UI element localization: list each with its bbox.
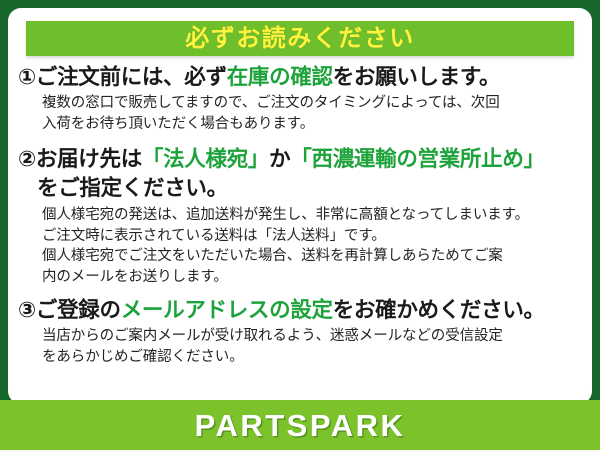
footer-brand-band: PARTSPARK bbox=[0, 400, 600, 450]
notice-item-2-body-line-1: 個人様宅宛の発送は、追加送料が発生し、非常に高額となってしまいます。 bbox=[42, 205, 584, 226]
notice-item-1: ①ご注文前には、必ず在庫の確認をお願いします。 複数の窓口で販売してますので、ご… bbox=[16, 64, 584, 135]
notice-item-1-heading-part-1: ①ご注文前には、必ず bbox=[18, 65, 227, 89]
notice-item-2-heading-part-3: か bbox=[269, 147, 290, 171]
notice-item-2-heading-highlight-2: 「西濃運輸の営業所止め」 bbox=[290, 147, 544, 171]
notice-item-2-body-line-3: 個人様宅宛でご注文をいただいた場合、送料を再計算しあらためてご案 bbox=[42, 246, 584, 267]
notice-item-2-body-line-2: ご注文時に表示されている送料は「法人送料」です。 bbox=[42, 226, 584, 247]
notice-panel: 必ずお読みください ①ご注文前には、必ず在庫の確認をお願いします。 複数の窓口で… bbox=[8, 8, 592, 404]
notice-item-3-body-line-1: 当店からのご案内メールが受け取れるよう、迷惑メールなどの受信設定 bbox=[42, 326, 584, 347]
notice-item-1-heading-part-3: をお願いします。 bbox=[333, 65, 500, 89]
page-title: 必ずお読みください bbox=[185, 27, 415, 51]
notice-item-3: ③ご登録のメールアドレスの設定をお確かめください。 当店からのご案内メールが受け… bbox=[16, 297, 584, 368]
notice-item-1-heading-highlight: 在庫の確認 bbox=[227, 65, 333, 89]
brand-logo-text: PARTSPARK bbox=[195, 410, 406, 441]
notice-item-3-heading-part-3: をお確かめください。 bbox=[333, 298, 545, 322]
notice-item-3-heading-highlight: メールアドレスの設定 bbox=[121, 298, 333, 322]
notice-item-2-heading-part-1: ②お届け先は bbox=[18, 147, 142, 171]
notice-item-1-body-line-1: 複数の窓口で販売してますので、ご注文のタイミングによっては、次回 bbox=[42, 93, 584, 114]
notice-items-list: ①ご注文前には、必ず在庫の確認をお願いします。 複数の窓口で販売してますので、ご… bbox=[8, 64, 592, 368]
header-banner: 必ずお読みください bbox=[26, 21, 574, 56]
notice-item-2-heading: ②お届け先は「法人様宛」か「西濃運輸の営業所止め」 bbox=[16, 146, 584, 173]
notice-item-1-body: 複数の窓口で販売してますので、ご注文のタイミングによっては、次回 入荷をお待ち頂… bbox=[16, 93, 584, 135]
notice-item-2-heading-highlight-1: 「法人様宛」 bbox=[142, 147, 269, 171]
notice-item-2: ②お届け先は「法人様宛」か「西濃運輸の営業所止め」 をご指定ください。 個人様宅… bbox=[16, 146, 584, 288]
notice-item-2-heading-line-2: をご指定ください。 bbox=[16, 175, 584, 202]
notice-item-1-heading: ①ご注文前には、必ず在庫の確認をお願いします。 bbox=[16, 64, 584, 91]
notice-item-3-body-line-2: をあらかじめご確認ください。 bbox=[42, 347, 584, 368]
notice-item-3-heading-part-1: ③ご登録の bbox=[18, 298, 121, 322]
notice-item-3-body: 当店からのご案内メールが受け取れるよう、迷惑メールなどの受信設定 をあらかじめご… bbox=[16, 326, 584, 368]
notice-item-2-body: 個人様宅宛の発送は、追加送料が発生し、非常に高額となってしまいます。 ご注文時に… bbox=[16, 205, 584, 289]
notice-card: 必ずお読みください ①ご注文前には、必ず在庫の確認をお願いします。 複数の窓口で… bbox=[0, 0, 600, 450]
notice-item-1-body-line-2: 入荷をお待ち頂いただく場合もあります。 bbox=[42, 114, 584, 135]
notice-item-3-heading: ③ご登録のメールアドレスの設定をお確かめください。 bbox=[16, 297, 584, 324]
notice-item-2-body-line-4: 内のメールをお送りします。 bbox=[42, 267, 584, 288]
